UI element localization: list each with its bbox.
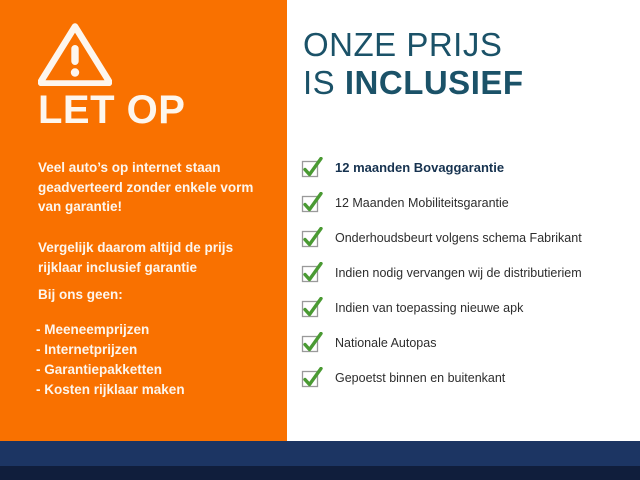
price-heading-emphasis: INCLUSIEF bbox=[345, 64, 524, 101]
price-heading-prefix: IS bbox=[303, 64, 345, 101]
inclusive-checklist: 12 maanden Bovaggarantie 12 Maanden Mobi… bbox=[301, 150, 637, 395]
list-item: Onderhoudsbeurt volgens schema Fabrikant bbox=[301, 220, 637, 255]
checkbox-checked-icon bbox=[301, 297, 323, 319]
list-item: Indien van toepassing nieuwe apk bbox=[301, 290, 637, 325]
list-item: 12 maanden Bovaggarantie bbox=[301, 150, 637, 185]
price-heading-line1: ONZE PRIJS bbox=[303, 26, 524, 64]
list-item-label: 12 maanden Bovaggarantie bbox=[335, 160, 504, 175]
list-item: Nationale Autopas bbox=[301, 325, 637, 360]
price-heading: ONZE PRIJS IS INCLUSIEF bbox=[303, 26, 524, 102]
checkbox-checked-icon bbox=[301, 227, 323, 249]
list-item-label: Indien van toepassing nieuwe apk bbox=[335, 301, 523, 315]
checkbox-checked-icon bbox=[301, 367, 323, 389]
checkbox-checked-icon bbox=[301, 262, 323, 284]
promo-banner: LET OP Veel auto’s op internet staan gea… bbox=[0, 0, 640, 480]
warning-paragraph-1: Veel auto’s op internet staan geadvertee… bbox=[38, 158, 273, 217]
warning-triangle-icon bbox=[38, 22, 112, 86]
inclusive-panel: ONZE PRIJS IS INCLUSIEF 12 maanden Bovag… bbox=[287, 0, 640, 441]
exclusion-list: - Meeneemprijzen - Internetprijzen - Gar… bbox=[36, 320, 185, 400]
list-item-label: 12 Maanden Mobiliteitsgarantie bbox=[335, 196, 509, 210]
list-item-label: Indien nodig vervangen wij de distributi… bbox=[335, 266, 582, 280]
checkbox-checked-icon bbox=[301, 192, 323, 214]
checkbox-checked-icon bbox=[301, 332, 323, 354]
warning-panel: LET OP Veel auto’s op internet staan gea… bbox=[0, 0, 287, 441]
warning-paragraph-2: Vergelijk daarom altijd de prijs rijklaa… bbox=[38, 238, 273, 277]
checkbox-checked-icon bbox=[301, 157, 323, 179]
list-item: - Internetprijzen bbox=[36, 340, 185, 360]
list-item-label: Nationale Autopas bbox=[335, 336, 436, 350]
list-item: - Garantiepakketten bbox=[36, 360, 185, 380]
list-item-label: Gepoetst binnen en buitenkant bbox=[335, 371, 505, 385]
footer-band-secondary bbox=[0, 466, 640, 480]
warning-paragraph-3: Bij ons geen: bbox=[38, 285, 273, 305]
list-item: - Meeneemprijzen bbox=[36, 320, 185, 340]
list-item-label: Onderhoudsbeurt volgens schema Fabrikant bbox=[335, 231, 582, 245]
let-op-title: LET OP bbox=[38, 88, 185, 132]
list-item: Indien nodig vervangen wij de distributi… bbox=[301, 255, 637, 290]
list-item: Gepoetst binnen en buitenkant bbox=[301, 360, 637, 395]
price-heading-line2: IS INCLUSIEF bbox=[303, 64, 524, 102]
list-item: 12 Maanden Mobiliteitsgarantie bbox=[301, 185, 637, 220]
list-item: - Kosten rijklaar maken bbox=[36, 380, 185, 400]
footer-band-primary bbox=[0, 441, 640, 466]
